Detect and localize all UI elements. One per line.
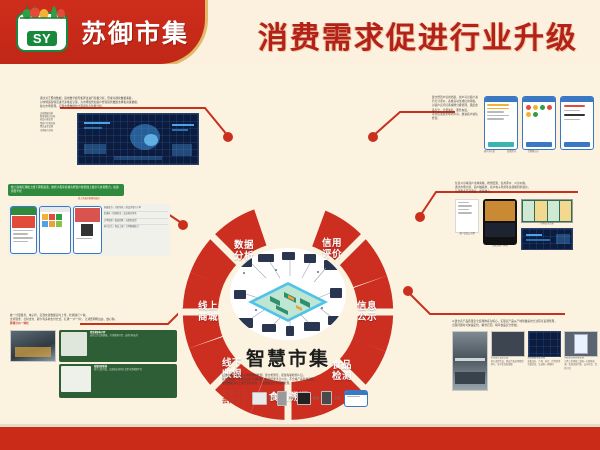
phone-caption: 信用评分 bbox=[507, 151, 516, 154]
panel-paragraph: 统一计量器具、电子秤，实现交易数据实时上传，杜绝缺斤少两。 支持现金、扫码支付、… bbox=[10, 314, 170, 327]
data-dashboard-screen bbox=[77, 113, 199, 165]
panel-information-disclosure: 信息公示将商户主体资格、检测结果、信用评价、公示价格， 通过市场大屏、商户触摸屏… bbox=[455, 182, 597, 272]
market-aisle-photo bbox=[452, 331, 488, 391]
credit-phone-review bbox=[484, 96, 518, 150]
disclosure-screens: 市场公示大屏 bbox=[521, 199, 573, 250]
self-service-kiosk: 自助查询一体机 bbox=[483, 199, 517, 248]
brand-block: SY 苏御市集 bbox=[0, 0, 208, 67]
phone-caption: 商户评价页 bbox=[484, 151, 495, 154]
poster-canvas: 数据分析 信用评价 信息公示 食品检测 食品溯源 线下收银 线上商城 bbox=[0, 64, 600, 419]
panel-banner: 线上商城打通线上线下销售渠道，依托小程序商城为经营户提供线上展示与交易能力，拓展… bbox=[8, 184, 124, 196]
vegetable-basket-icon bbox=[20, 5, 66, 19]
traceability-tile-2: 溯源数据采集终端 采集品名、产地、批次、供货商等关键信息，生成唯一溯源码 bbox=[528, 331, 562, 391]
panel-credit-evaluation: 建立经营户信用档案，用户可对商户进行打分评价，系统自动生成信用等级。 对商户实行… bbox=[432, 96, 596, 176]
panel-paragraph: 对食用农产品实施入场前快速检测，建立检测室，配备专职检测人员， 每日对蔬菜、水果… bbox=[222, 374, 398, 387]
mall-phone-detail bbox=[73, 206, 102, 254]
center-illustration bbox=[230, 248, 346, 340]
inspection-result-screen bbox=[344, 390, 368, 407]
label-information-disclosure: 信息公示 bbox=[346, 301, 388, 323]
center-title: 智慧市集 bbox=[178, 344, 398, 371]
handwritten-note: 来源可查 去向可追 bbox=[222, 390, 248, 406]
panel-paragraph: 通过对汇聚的数据，运用数学模型和算法进行挖掘分析，形成可视化数据看板， 对市场运… bbox=[40, 97, 200, 110]
credit-phone-ranking bbox=[560, 96, 594, 150]
panel-bullets: 交易数据分析 客流量统计分析 商品价格走势 经营户信用分析 食品安全追溯 市场热… bbox=[40, 113, 74, 165]
panel-online-mall: 线上商城打通线上线下销售渠道，依托小程序商城为经营户提供线上展示与交易能力，拓展… bbox=[8, 184, 170, 264]
traceability-tile-3: 消费者扫码溯源查询 小票上的溯源二维码一扫即知来源，实现来源可查、去向可追、责任… bbox=[564, 331, 598, 391]
disclosure-board: 商户信息公示牌 bbox=[455, 199, 479, 236]
brand-logo: SY bbox=[16, 12, 68, 52]
poster-headline: 消费需求促进行业升级 bbox=[258, 13, 578, 57]
brand-name: 苏御市集 bbox=[81, 14, 189, 50]
logo-sy-text: SY bbox=[27, 31, 57, 46]
phone-caption: 红黑榜公示 bbox=[528, 151, 539, 154]
credit-phone-score bbox=[522, 96, 556, 150]
cashier-card-1: 智慧溯源电子秤 自动上传交易数据、打印溯源小票，支持扫码支付 bbox=[59, 330, 177, 362]
panel-offline-cashier: 统一计量器具、电子秤，实现交易数据实时上传，杜绝缺斤少两。 支持现金、扫码支付、… bbox=[10, 314, 180, 409]
inspection-flow: 取样 制样 检测 上传 bbox=[252, 391, 340, 406]
panel-paragraph: 信息公示将商户主体资格、检测结果、信用评价、公示价格， 通过市场大屏、商户触摸屏… bbox=[455, 182, 593, 195]
poster-header: SY 苏御市集 消费需求促进行业升级 bbox=[0, 0, 600, 64]
market-photo bbox=[10, 330, 56, 362]
mall-feature-list: 商城首页｜分类导航｜商品详情与下单 优惠券｜拼团秒杀｜会员积分体系 订单管理｜配… bbox=[104, 206, 168, 254]
panel-subcaption: 线上商城功能模块展示 bbox=[8, 198, 170, 201]
panel-food-traceability: 以建立农产品质量安全追溯体系为核心，实现农产品从产地到餐桌的全过程可追溯管理， … bbox=[452, 320, 598, 420]
panel-paragraph: 建立经营户信用档案，用户可对商户进行打分评价，系统自动生成信用等级。 对商户实行… bbox=[432, 96, 480, 150]
mall-phone-home bbox=[10, 206, 37, 254]
traceability-tile-1: 市场进货查验台账 商户进货凭证、检疫合格证明随货同行，电子化归档留痕 bbox=[491, 331, 525, 391]
panel-paragraph: 以建立农产品质量安全追溯体系为核心，实现农产品从产地到餐桌的全过程可追溯管理， … bbox=[452, 320, 594, 328]
cashier-card-2: 收银管理系统 商户日清月结、交易流水实时汇总至市场管理平台 bbox=[59, 364, 177, 398]
mall-phone-category bbox=[39, 206, 70, 254]
poster-root: SY 苏御市集 消费需求促进行业升级 bbox=[0, 0, 600, 450]
bottom-bar bbox=[0, 427, 600, 450]
label-online-mall: 线上商城 bbox=[186, 301, 230, 323]
panel-data-analysis: 通过对汇聚的数据，运用数学模型和算法进行挖掘分析，形成可视化数据看板， 对市场运… bbox=[40, 97, 206, 179]
